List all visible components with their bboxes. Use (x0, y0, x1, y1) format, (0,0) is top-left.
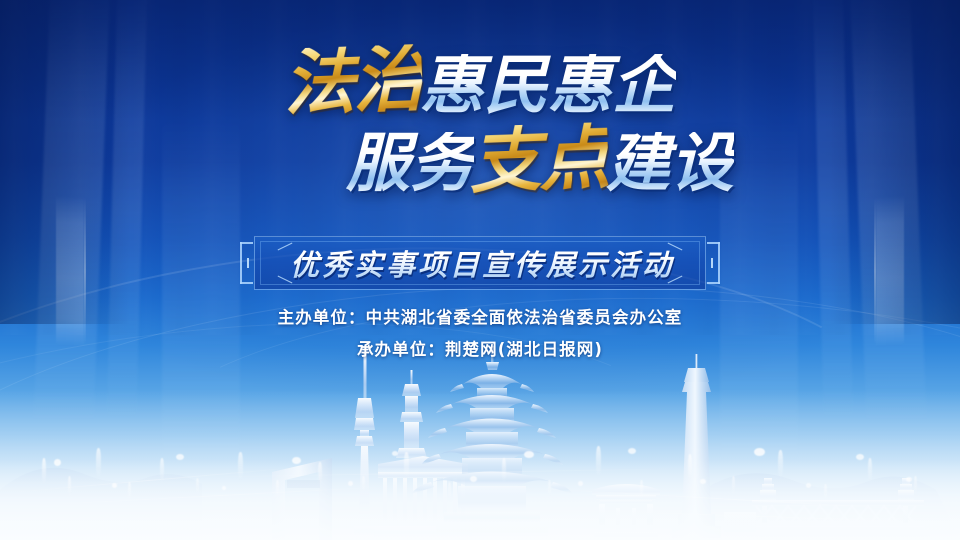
title-segment-jianshe: 建设 (606, 132, 734, 196)
title-line-2: 服务支点建设 (0, 132, 960, 196)
title-segment-zhidian: 支点 (468, 122, 609, 198)
main-title: 法治惠民惠企 服务支点建设 (0, 54, 960, 196)
organizer-undertaker: 承办单位：荆楚网(湖北日报网) (0, 342, 960, 359)
subtitle-banner: 优秀实事项目宣传展示活动 (240, 232, 720, 294)
organizer-host: 主办单位：中共湖北省委全面依法治省委员会办公室 (0, 310, 960, 327)
banner-text: 优秀实事项目宣传展示活动 (240, 232, 720, 294)
title-segment-huiminhuiqi: 惠民惠企 (420, 54, 676, 118)
organizer-block: 主办单位：中共湖北省委全面依法治省委员会办公室 承办单位：荆楚网(湖北日报网) (0, 310, 960, 358)
title-line-1: 法治惠民惠企 (0, 54, 960, 118)
title-segment-fuwu: 服务 (346, 132, 474, 196)
title-segment-fazhi: 法治 (282, 44, 423, 120)
poster-canvas: 法治惠民惠企 服务支点建设 优秀实事项目宣传展示活动 主办单位：中共湖北省委全面… (0, 0, 960, 540)
